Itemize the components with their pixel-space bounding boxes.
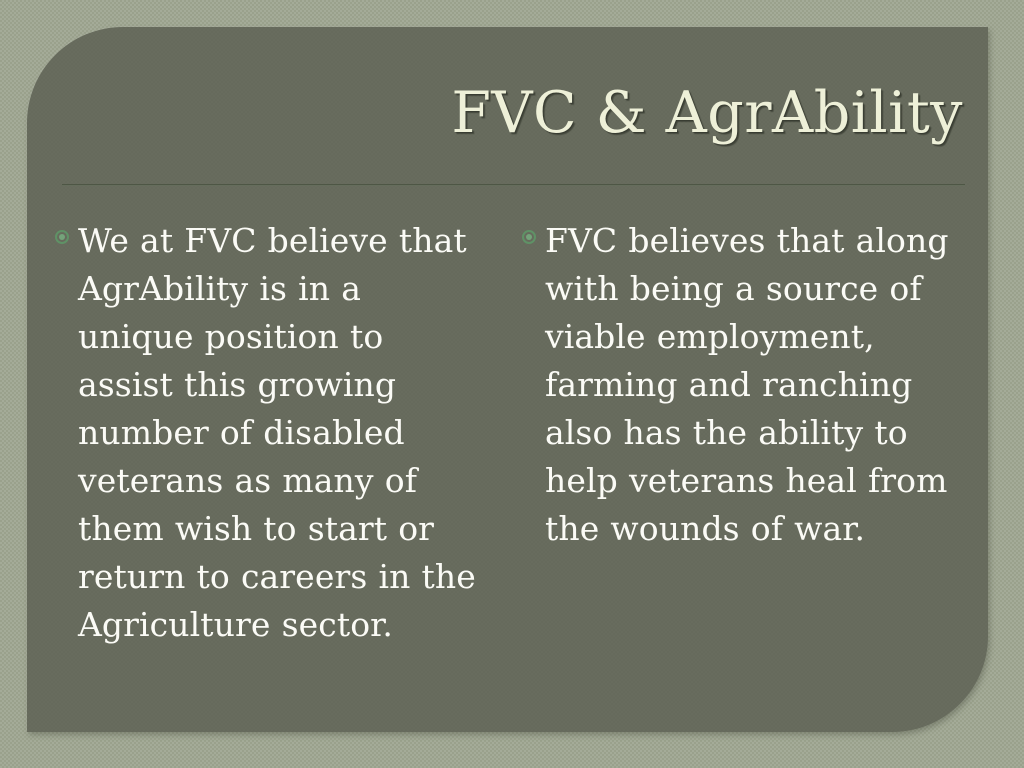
page-title: FVC & AgrAbility bbox=[451, 85, 963, 142]
ring-bullet-icon bbox=[55, 230, 69, 244]
list-item: We at FVC believe that AgrAbility is in … bbox=[55, 217, 496, 649]
bullet-text-right: FVC believes that along with being a sou… bbox=[545, 217, 963, 553]
ring-bullet-icon bbox=[522, 230, 536, 244]
left-column: We at FVC believe that AgrAbility is in … bbox=[55, 217, 496, 649]
slide-body-columns: We at FVC believe that AgrAbility is in … bbox=[55, 217, 963, 712]
list-item: FVC believes that along with being a sou… bbox=[522, 217, 963, 553]
slide-content-panel: FVC & AgrAbility We at FVC believe that … bbox=[27, 27, 988, 732]
presentation-slide: FVC & AgrAbility We at FVC believe that … bbox=[0, 0, 1024, 768]
bullet-text-left: We at FVC believe that AgrAbility is in … bbox=[78, 217, 478, 649]
title-divider-rule bbox=[62, 184, 965, 186]
right-column: FVC believes that along with being a sou… bbox=[522, 217, 963, 553]
slide-title-block: FVC & AgrAbility bbox=[27, 85, 988, 181]
